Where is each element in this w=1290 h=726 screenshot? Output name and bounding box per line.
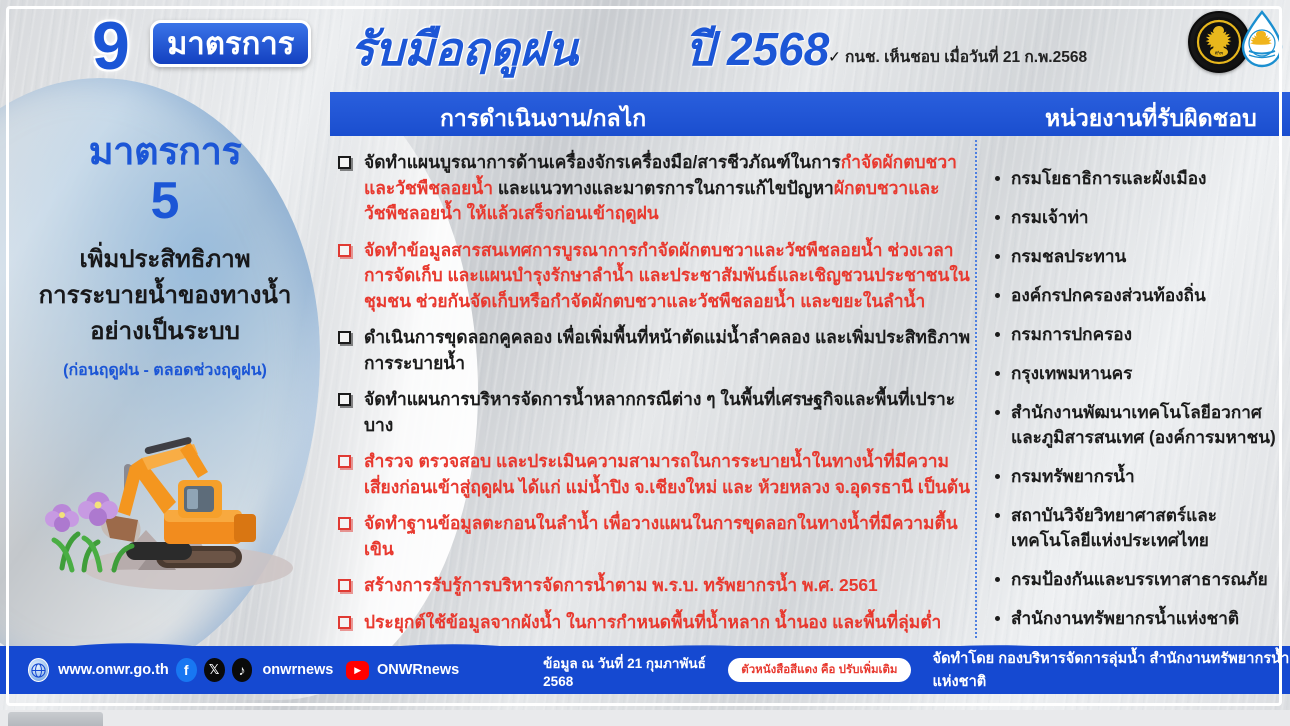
agency-name: สำนักงานทรัพยากรน้ำแห่งชาติ (1011, 606, 1239, 631)
agency-name: กรมโยธาธิการและผังเมือง (1011, 166, 1206, 191)
agency-name: กรมป้องกันและบรรเทาสาธารณภัย (1011, 567, 1268, 592)
agency-item: กรมทรัพยากรน้ำ (995, 464, 1280, 489)
measure-number: 5 (0, 172, 330, 230)
footer-produced-by: จัดทำโดย กองบริหารจัดการลุ่มน้ำ สำนักงาน… (933, 647, 1290, 693)
checkbox-icon[interactable] (338, 331, 351, 344)
bullet-icon (995, 513, 1000, 518)
operation-text-segment: ประยุกต์ใช้ข้อมูลจากผังน้ำ ในการกำหนดพื้… (364, 612, 941, 632)
operation-text: จัดทำแผนบูรณาการด้านเครื่องจักรเครื่องมื… (364, 150, 978, 227)
checkbox-icon[interactable] (338, 579, 351, 592)
measure-count-number: 9 (92, 12, 128, 80)
footer-bar: www.onwr.go.th f 𝕏 ♪ onwrnews ▶ ONWRnews… (0, 646, 1290, 694)
agency-name: สถาบันวิจัยวิทยาศาสตร์และเทคโนโลยีแห่งปร… (1011, 503, 1280, 553)
checkbox-icon[interactable] (338, 393, 351, 406)
footer-social-handle: onwrnews (262, 662, 333, 678)
bullet-icon (995, 474, 1000, 479)
operation-item: จัดทำแผนการบริหารจัดการน้ำหลากกรณีต่าง ๆ… (338, 387, 978, 438)
check-icon: ✓ (828, 49, 841, 66)
slide-header: 9 มาตรการ รับมือฤดูฝน ปี 2568 ✓กนช. เห็น… (0, 0, 1290, 92)
bullet-icon (995, 254, 1000, 259)
bullet-icon (995, 577, 1000, 582)
operation-text-segment: หรือกำจัดผักตบชวาและวัชพืชลอยน้ำ และขยะใ… (519, 291, 925, 311)
facebook-icon[interactable]: f (176, 658, 197, 682)
measure-desc-line-3: อย่างเป็นระบบ (0, 314, 330, 350)
bullet-icon (995, 293, 1000, 298)
operation-item: ประยุกต์ใช้ข้อมูลจากผังน้ำ ในการกำหนดพื้… (338, 610, 978, 636)
footer-data-date: ข้อมูล ณ วันที่ 21 กุมภาพันธ์ 2568 (543, 652, 714, 689)
globe-icon (28, 658, 49, 682)
operation-item: จัดทำแผนบูรณาการด้านเครื่องจักรเครื่องมื… (338, 150, 978, 227)
operation-item: สร้างการรับรู้การบริหารจัดการน้ำตาม พ.ร.… (338, 573, 978, 599)
agency-item: สำนักงานพัฒนาเทคโนโลยีอวกาศและภูมิสารสนเ… (995, 400, 1280, 450)
operation-text-segment: ดำเนินการขุดลอกคูคลอง เพื่อเพิ่มพื้นที่ห… (364, 327, 970, 373)
agency-name: สำนักงานพัฒนาเทคโนโลยีอวกาศและภูมิสารสนเ… (1011, 400, 1280, 450)
operation-text: ประยุกต์ใช้ข้อมูลจากผังน้ำ ในการกำหนดพื้… (364, 610, 941, 636)
agency-name: กรุงเทพมหานคร (1011, 361, 1132, 386)
operation-item: ดำเนินการขุดลอกคูคลอง เพื่อเพิ่มพื้นที่ห… (338, 325, 978, 376)
onwr-water-drop-logo (1236, 8, 1288, 74)
agency-item: องค์กรปกครองส่วนท้องถิ่น (995, 283, 1280, 308)
agency-item: กรุงเทพมหานคร (995, 361, 1280, 386)
agency-item: สำนักงานทรัพยากรน้ำแห่งชาติ (995, 606, 1280, 631)
operation-item: สำรวจ ตรวจสอบ และประเมินความสามารถในการร… (338, 449, 978, 500)
measure-pill-badge: มาตรการ (150, 20, 311, 67)
column-header-agencies: หน่วยงานที่รับผิดชอบ (1045, 101, 1257, 137)
footer-legend-note: ตัวหนังสือสีแดง คือ ปรับเพิ่มเติม (728, 658, 910, 682)
agency-name: องค์กรปกครองส่วนท้องถิ่น (1011, 283, 1206, 308)
bullet-icon (995, 215, 1000, 220)
measure-label: มาตรการ (0, 130, 330, 174)
operation-text: จัดทำฐานข้อมูลตะกอนในลำน้ำ เพื่อวางแผนใน… (364, 511, 978, 562)
operation-item: จัดทำข้อมูลสารสนเทศการบูรณาการกำจัดผักตบ… (338, 238, 978, 315)
measure-panel: มาตรการ 5 เพิ่มประสิทธิภาพ การระบายน้ำขอ… (0, 130, 330, 383)
bullet-icon (995, 616, 1000, 621)
operation-text-segment: จัดทำแผนการบริหารจัดการน้ำหลากกรณีต่าง ๆ… (364, 389, 955, 435)
measure-desc-line-1: เพิ่มประสิทธิภาพ (0, 242, 330, 278)
agency-item: กรมชลประทาน (995, 244, 1280, 269)
operation-item: จัดทำฐานข้อมูลตะกอนในลำน้ำ เพื่อวางแผนใน… (338, 511, 978, 562)
agency-name: กรมชลประทาน (1011, 244, 1126, 269)
bullet-icon (995, 332, 1000, 337)
operations-list: จัดทำแผนบูรณาการด้านเครื่องจักรเครื่องมื… (338, 150, 978, 646)
slide-canvas: 9 มาตรการ รับมือฤดูฝน ปี 2568 ✓กนช. เห็น… (0, 0, 1290, 710)
approval-text: กนช. เห็นชอบ เมื่อวันที่ 21 ก.พ.2568 (845, 49, 1087, 66)
x-twitter-icon[interactable]: 𝕏 (204, 658, 225, 682)
column-header-bar: การดำเนินงาน/กลไก หน่วยงานที่รับผิดชอบ (330, 92, 1290, 136)
footer-website[interactable]: www.onwr.go.th (58, 662, 169, 678)
bullet-icon (995, 176, 1000, 181)
svg-text:๙๓: ๙๓ (1215, 51, 1224, 57)
excavator-illustration (38, 418, 300, 598)
agency-name: กรมเจ้าท่า (1011, 205, 1089, 230)
bullet-icon (995, 371, 1000, 376)
title-main: รับมือฤดูฝน (350, 13, 578, 86)
checkbox-icon[interactable] (338, 244, 351, 257)
taskbar (0, 710, 1290, 726)
operation-text-segment: และแนวทางและมาตรการในการแก้ไขปัญหา (493, 178, 834, 198)
measure-desc-line-2: การระบายน้ำของทางน้ำ (0, 278, 330, 314)
operation-text-segment: จัดทำฐานข้อมูลตะกอนในลำน้ำ เพื่อวางแผนใน… (364, 513, 958, 559)
agency-item: กรมโยธาธิการและผังเมือง (995, 166, 1280, 191)
youtube-icon[interactable]: ▶ (346, 661, 369, 680)
bullet-icon (995, 410, 1000, 415)
checkbox-icon[interactable] (338, 156, 351, 169)
operation-text-segment: สร้างการรับรู้การบริหารจัดการน้ำตาม พ.ร.… (364, 575, 878, 595)
agency-item: กรมป้องกันและบรรเทาสาธารณภัย (995, 567, 1280, 592)
checkbox-icon[interactable] (338, 616, 351, 629)
approval-note: ✓กนช. เห็นชอบ เมื่อวันที่ 21 ก.พ.2568 (828, 44, 1087, 69)
agency-name: กรมการปกครอง (1011, 322, 1132, 347)
operation-text-segment: สำรวจ ตรวจสอบ และประเมินความสามารถในการร… (364, 451, 970, 497)
operation-text-segment: จัดทำแผนบูรณาการด้านเครื่องจักรเครื่องมื… (364, 152, 841, 172)
checkbox-icon[interactable] (338, 517, 351, 530)
column-header-operations: การดำเนินงาน/กลไก (440, 101, 646, 137)
tiktok-icon[interactable]: ♪ (232, 658, 253, 682)
operation-text: ดำเนินการขุดลอกคูคลอง เพื่อเพิ่มพื้นที่ห… (364, 325, 978, 376)
agencies-list: กรมโยธาธิการและผังเมืองกรมเจ้าท่ากรมชลปร… (995, 166, 1280, 645)
agency-item: กรมการปกครอง (995, 322, 1280, 347)
measure-timing: (ก่อนฤดูฝน - ตลอดช่วงฤดูฝน) (0, 358, 330, 383)
title-year: ปี 2568 (685, 13, 829, 86)
checkbox-icon[interactable] (338, 455, 351, 468)
agency-name: กรมทรัพยากรน้ำ (1011, 464, 1135, 489)
operation-text: สร้างการรับรู้การบริหารจัดการน้ำตาม พ.ร.… (364, 573, 878, 599)
measure-pill-label: มาตรการ (167, 28, 294, 59)
footer-youtube-handle: ONWRnews (377, 662, 459, 678)
taskbar-window-chip[interactable] (8, 712, 103, 726)
agency-item: กรมเจ้าท่า (995, 205, 1280, 230)
operation-text: จัดทำแผนการบริหารจัดการน้ำหลากกรณีต่าง ๆ… (364, 387, 978, 438)
agency-item: สถาบันวิจัยวิทยาศาสตร์และเทคโนโลยีแห่งปร… (995, 503, 1280, 553)
operation-text: สำรวจ ตรวจสอบ และประเมินความสามารถในการร… (364, 449, 978, 500)
operation-text: จัดทำข้อมูลสารสนเทศการบูรณาการกำจัดผักตบ… (364, 238, 978, 315)
